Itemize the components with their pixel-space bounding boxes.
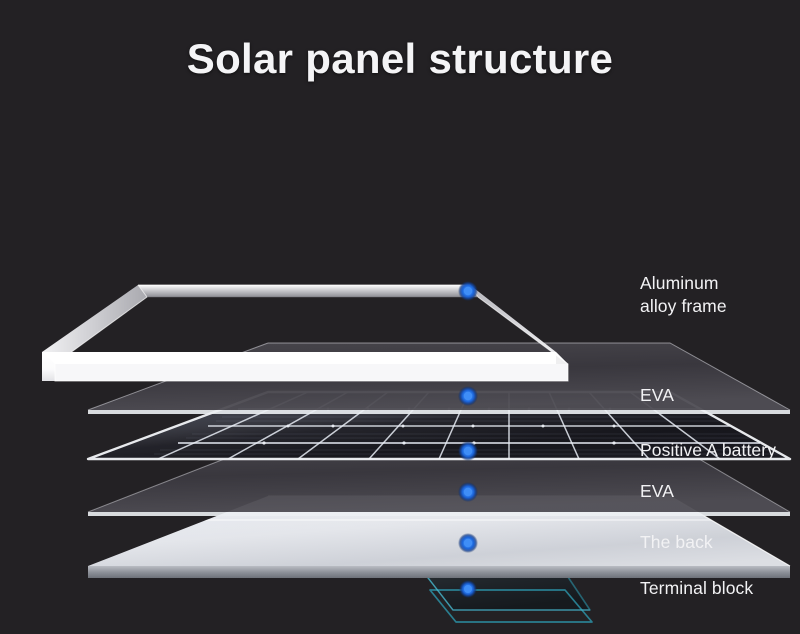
label-eva-bottom: EVA (640, 480, 674, 503)
solar-panel-structure-figure: Solar panel structure (0, 0, 800, 634)
layer-aluminum-alloy-frame[interactable] (42, 285, 568, 381)
marker-dot-core-icon (464, 447, 472, 455)
eva-top-front-edge (88, 410, 790, 414)
marker-dot-core-icon (464, 585, 472, 593)
label-aluminum-alloy-frame: Aluminum alloy frame (640, 272, 727, 318)
label-positive-a-battery: Positive A battery (640, 439, 776, 462)
marker-dot-core-icon (464, 539, 472, 547)
frame-front-rail-face (55, 364, 568, 381)
frame-back-rail (138, 285, 478, 297)
marker-dot-core-icon (464, 488, 472, 496)
eva-bottom-front-edge (88, 512, 790, 516)
marker-dot-core-icon (464, 287, 472, 295)
label-the-back: The back (640, 531, 713, 554)
marker-dot-core-icon (464, 392, 472, 400)
label-terminal-block: Terminal block (640, 577, 753, 600)
label-eva-top: EVA (640, 384, 674, 407)
label-line-1: Aluminum (640, 272, 727, 295)
label-line-2: alloy frame (640, 295, 727, 318)
frame-front-rail-top (42, 352, 568, 364)
